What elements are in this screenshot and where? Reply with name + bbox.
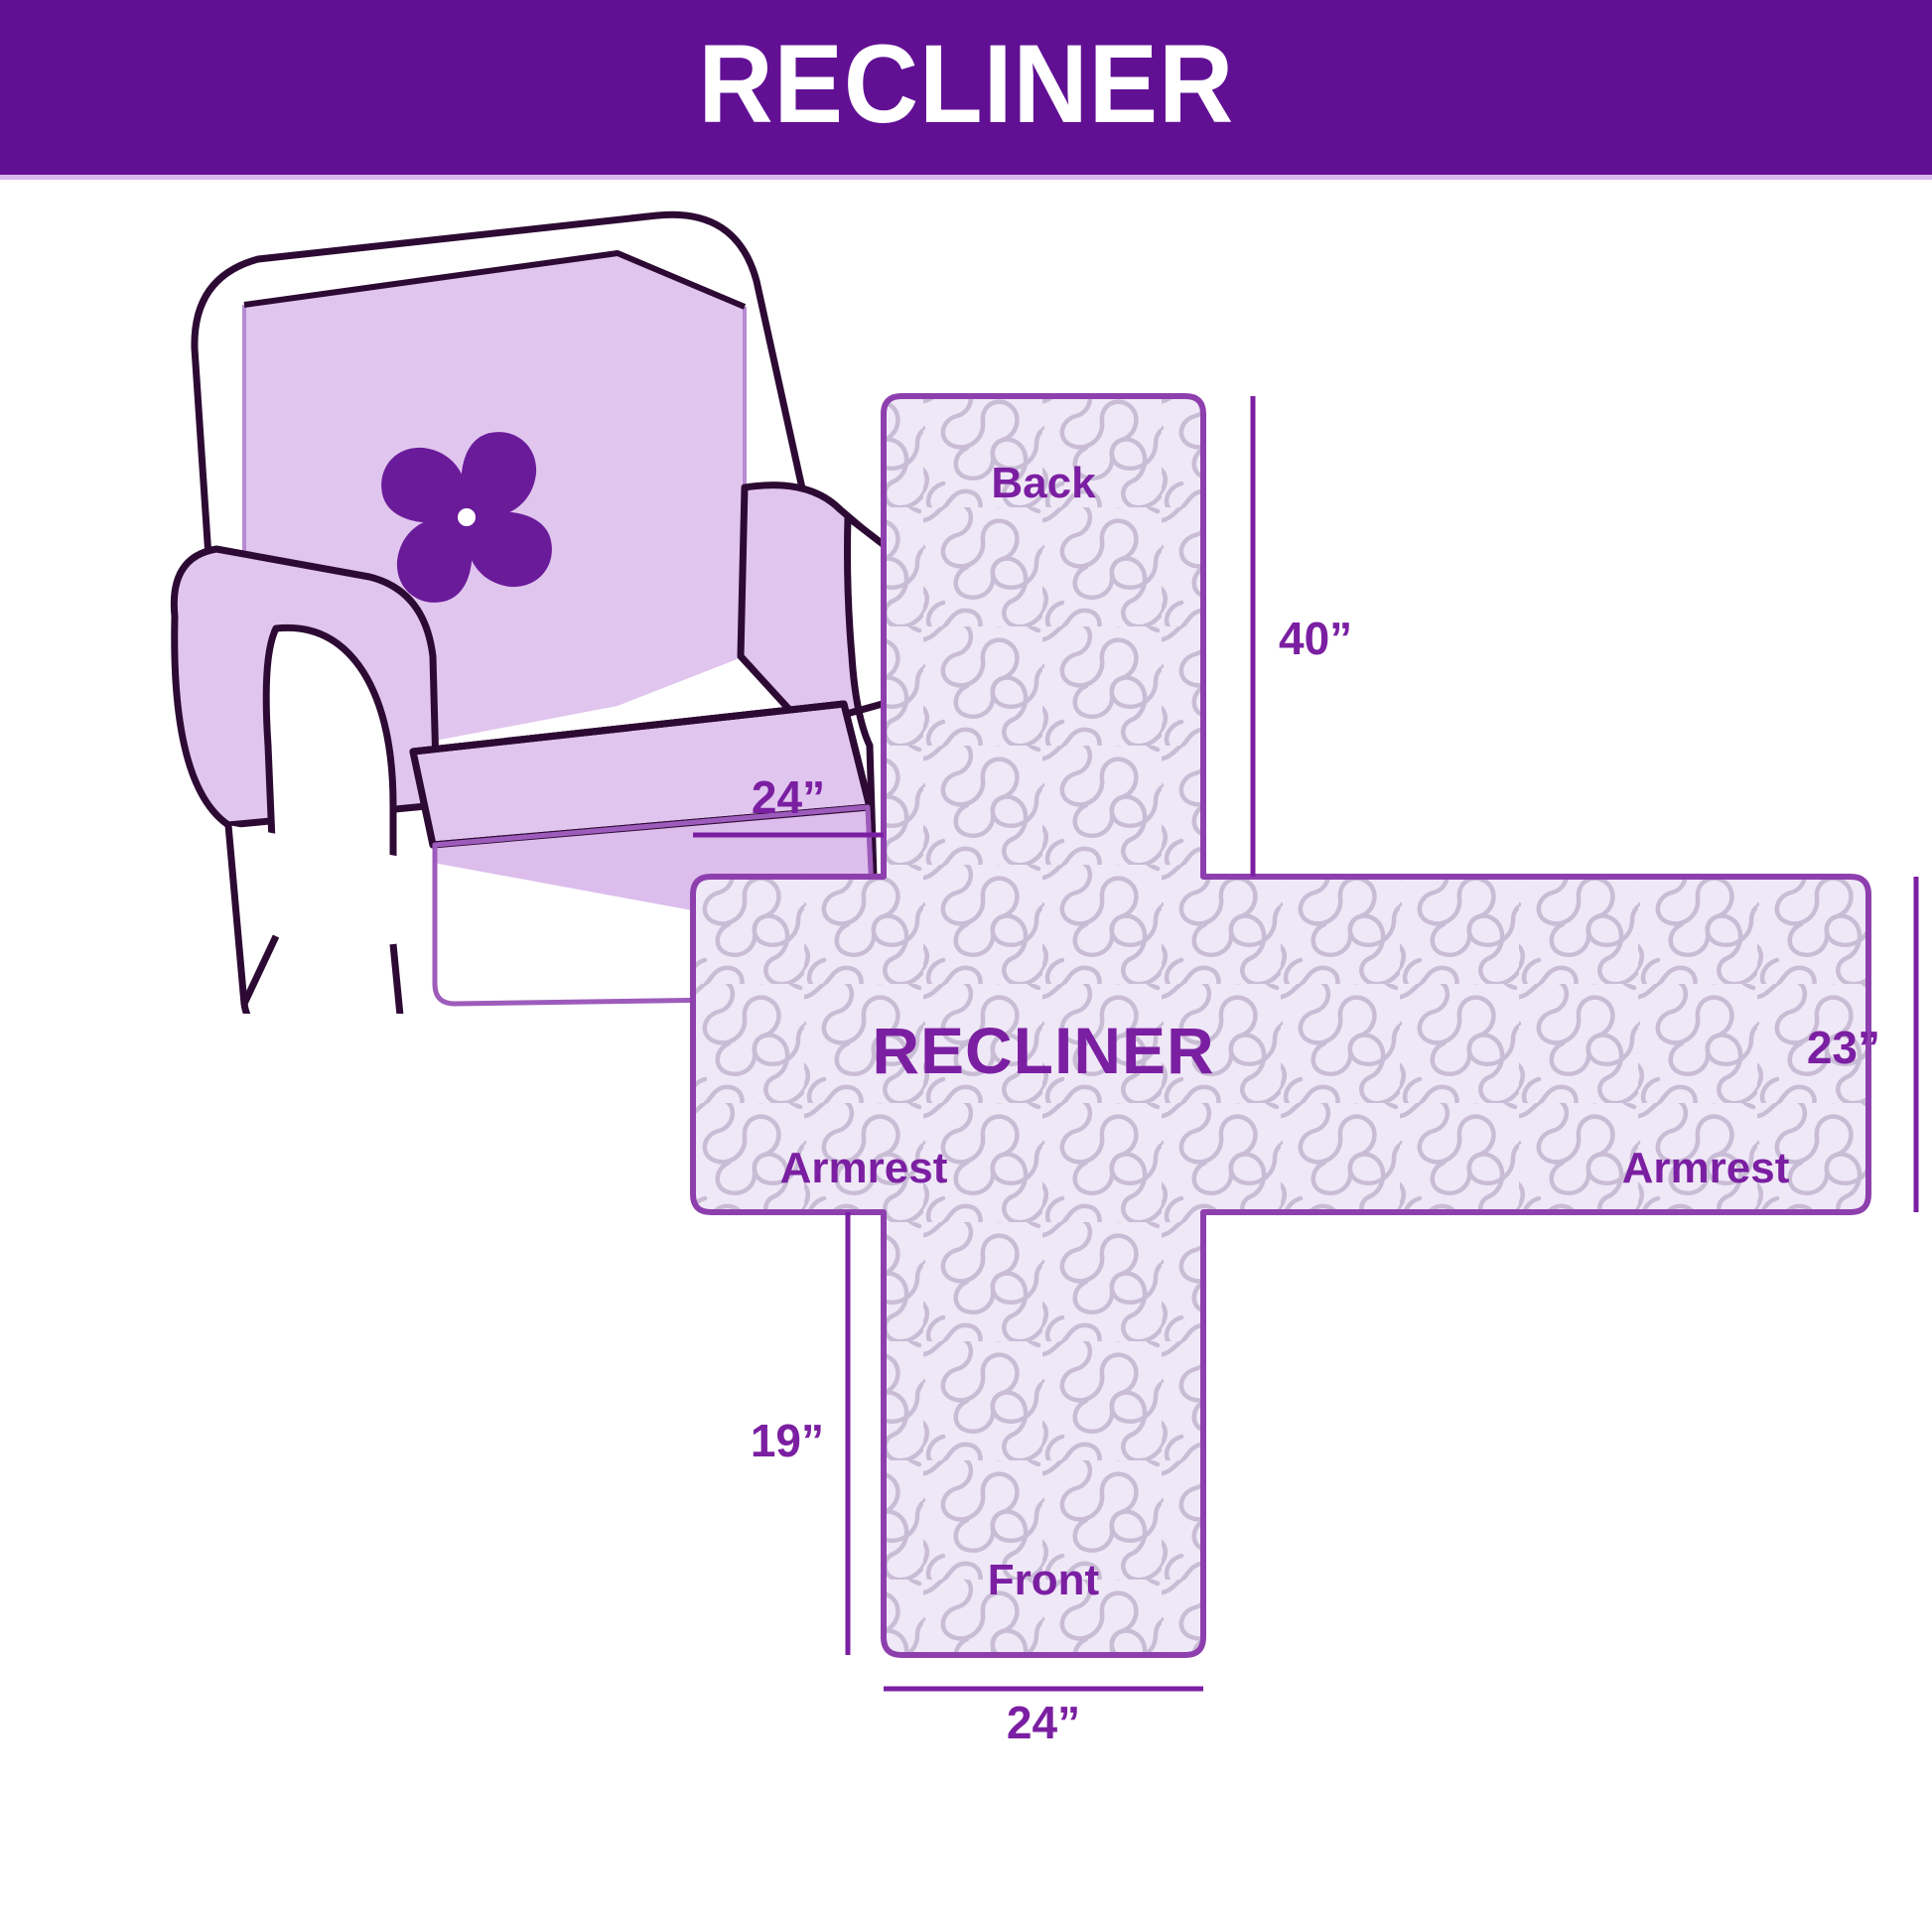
pinwheel-fan-icon <box>381 432 552 603</box>
center-label-recliner: RECLINER <box>872 1014 1214 1087</box>
main-canvas: Back RECLINER Armrest Armrest Front 40” … <box>0 180 1932 1932</box>
cover-cross-shape <box>693 396 1868 1655</box>
panel-label-back: Back <box>991 459 1096 507</box>
panel-label-front: Front <box>988 1556 1100 1604</box>
page-title: RECLINER <box>698 29 1234 140</box>
dim-label-front-height: 19” <box>751 1415 824 1466</box>
dim-label-front-width: 24” <box>1007 1697 1080 1738</box>
dim-label-armrest-left-width: 24” <box>752 771 825 823</box>
recliner-cover-cross-diagram: Back RECLINER Armrest Armrest Front 40” … <box>685 388 1932 1738</box>
dim-label-back-height: 40” <box>1279 613 1352 664</box>
panel-label-armrest-right: Armrest <box>1622 1144 1790 1192</box>
header-banner: RECLINER <box>0 0 1932 175</box>
dim-label-armrest-height: 23” <box>1807 1022 1880 1073</box>
panel-label-armrest-left: Armrest <box>780 1144 948 1192</box>
